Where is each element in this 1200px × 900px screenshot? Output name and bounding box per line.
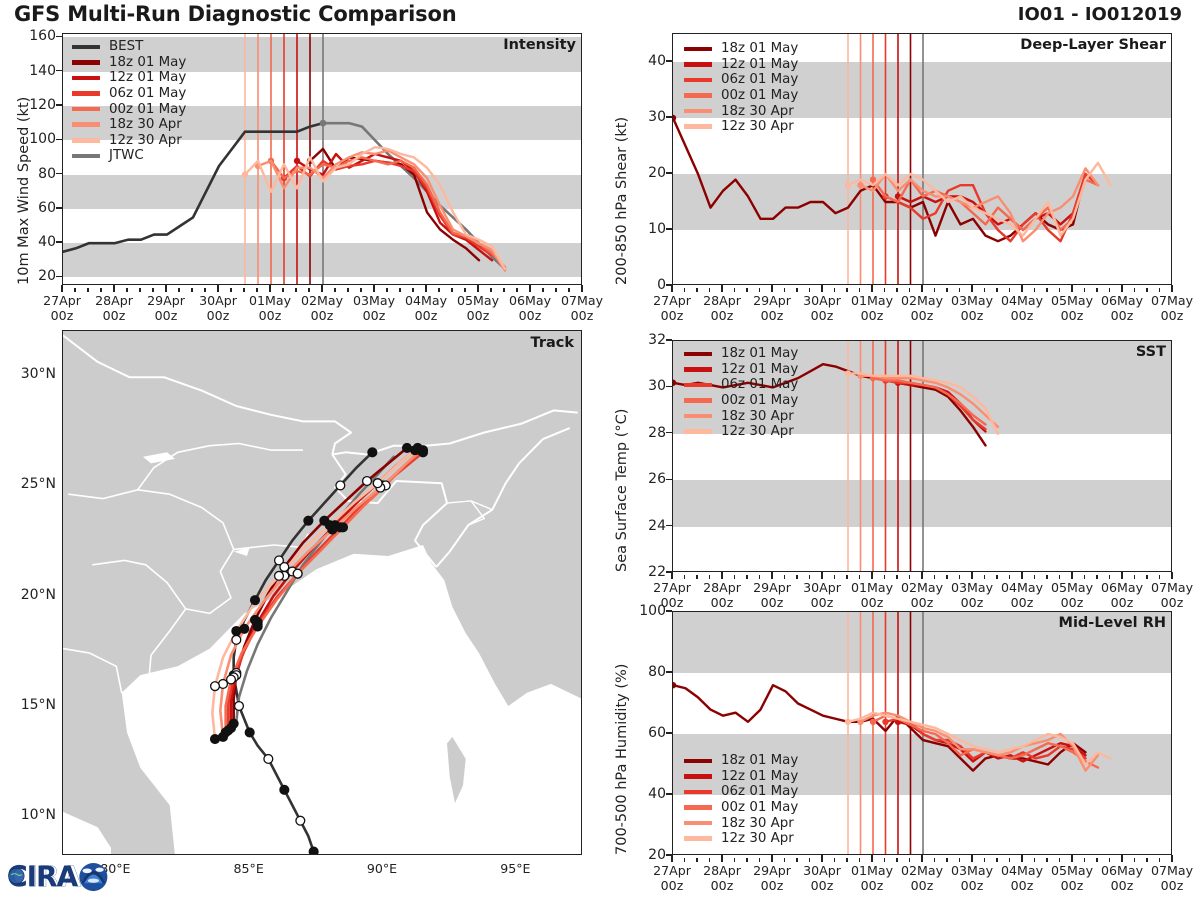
x-axis-tick-mark xyxy=(934,858,935,862)
legend-color-swatch xyxy=(72,122,100,127)
diagnostic-dashboard: GFS Multi-Run Diagnostic Comparison IO01… xyxy=(0,0,1200,900)
x-tick-hour: 00z xyxy=(1001,308,1043,323)
legend-item-label: 12z 30 Apr xyxy=(721,119,794,134)
legend-item-label: 18z 01 May xyxy=(721,753,798,768)
y-axis-tick-label: 20 xyxy=(610,165,666,181)
x-axis-tick-mark xyxy=(1146,858,1147,862)
y-axis-tick-label: 140 xyxy=(0,63,56,79)
track-lon-tick-label: 95°E xyxy=(500,861,530,876)
x-axis-tick-mark xyxy=(1071,285,1072,292)
track-lon-tick-label: 90°E xyxy=(367,861,397,876)
y-axis-tick-mark xyxy=(666,339,672,340)
x-tick-date: 06May xyxy=(509,293,551,308)
x-axis-tick-mark xyxy=(555,288,556,292)
legend-item-label: 06z 01 May xyxy=(721,377,798,392)
x-axis-tick-mark xyxy=(1046,858,1047,862)
x-tick-hour: 00z xyxy=(703,878,741,893)
x-axis-tick-mark xyxy=(734,575,735,579)
y-axis-tick-label: 30 xyxy=(610,378,666,394)
legend-color-swatch xyxy=(684,124,712,129)
x-axis-tick-label: 30Apr00z xyxy=(803,580,841,611)
legend-item: 12z 01 May xyxy=(684,362,798,378)
x-axis-tick-mark xyxy=(696,575,697,579)
x-axis-tick-label: 02May00z xyxy=(901,863,943,894)
series-line xyxy=(297,154,492,260)
legend-color-swatch xyxy=(72,154,100,159)
x-axis-tick-mark xyxy=(1096,288,1097,292)
x-axis-tick-mark xyxy=(709,575,710,579)
track-marker-open xyxy=(235,702,244,711)
x-axis-tick-mark xyxy=(684,575,685,579)
legend-color-swatch xyxy=(72,45,100,50)
intensity-legend: BEST18z 01 May12z 01 May06z 01 May00z 01… xyxy=(72,39,186,164)
x-axis-tick-mark xyxy=(191,288,192,292)
x-axis-tick-label: 02May00z xyxy=(301,293,343,324)
x-axis-tick-mark xyxy=(113,285,114,292)
track-marker-filled xyxy=(245,728,254,737)
x-tick-hour: 00z xyxy=(1051,595,1093,610)
x-tick-hour: 00z xyxy=(803,595,841,610)
x-axis-tick-label: 03May00z xyxy=(951,580,993,611)
x-axis-tick-mark xyxy=(1034,575,1035,579)
y-axis-tick-mark xyxy=(56,276,62,277)
x-axis-tick-mark xyxy=(846,288,847,292)
legend-item-label: 12z 30 Apr xyxy=(721,424,794,439)
x-axis-tick-mark xyxy=(451,288,452,292)
y-axis-tick-label: 40 xyxy=(610,786,666,802)
x-axis-tick-mark xyxy=(1071,855,1072,862)
legend-item-label: BEST xyxy=(109,39,143,54)
x-tick-date: 01May xyxy=(249,293,291,308)
x-axis-tick-mark xyxy=(896,575,897,579)
track-marker-filled xyxy=(325,521,334,530)
x-axis-tick-mark xyxy=(884,858,885,862)
x-tick-date: 27Apr xyxy=(43,293,81,308)
x-axis-tick-mark xyxy=(1121,285,1122,292)
x-axis-tick-mark xyxy=(542,288,543,292)
x-axis-tick-mark xyxy=(746,575,747,579)
x-tick-date: 06May xyxy=(1101,580,1143,595)
legend-color-swatch xyxy=(684,62,712,67)
legend-color-swatch xyxy=(72,107,100,112)
y-axis-tick-label: 0 xyxy=(610,277,666,293)
x-axis-tick-mark xyxy=(1096,858,1097,862)
x-tick-date: 29Apr xyxy=(753,580,791,595)
x-axis-tick-mark xyxy=(809,858,810,862)
legend-item: 06z 01 May xyxy=(72,86,186,102)
x-axis-tick-mark xyxy=(834,575,835,579)
x-axis-tick-mark xyxy=(871,855,872,862)
x-axis-tick-label: 02May00z xyxy=(901,580,943,611)
x-axis-tick-label: 30Apr00z xyxy=(199,293,237,324)
track-line xyxy=(226,450,423,732)
y-axis-tick-label: 100 xyxy=(0,131,56,147)
x-tick-date: 04May xyxy=(405,293,447,308)
x-axis-tick-mark xyxy=(759,575,760,579)
y-axis-tick-label: 100 xyxy=(610,603,666,619)
y-axis-tick-label: 30 xyxy=(610,109,666,125)
x-tick-date: 05May xyxy=(1051,293,1093,308)
x-tick-hour: 00z xyxy=(753,878,791,893)
legend-color-swatch xyxy=(684,367,712,372)
y-axis-tick-label: 28 xyxy=(610,425,666,441)
x-axis-tick-label: 05May00z xyxy=(1051,863,1093,894)
y-axis-tick-mark xyxy=(666,610,672,611)
legend-item-label: 12z 01 May xyxy=(721,769,798,784)
x-axis-tick-mark xyxy=(1021,572,1022,579)
x-tick-hour: 00z xyxy=(1101,878,1143,893)
x-tick-hour: 00z xyxy=(1051,878,1093,893)
track-marker-filled xyxy=(280,785,289,794)
legend-item: 18z 30 Apr xyxy=(684,408,798,424)
panel-mid-level-rh: Mid-Level RH 18z 01 May12z 01 May06z 01 … xyxy=(672,611,1172,855)
x-tick-date: 04May xyxy=(1001,580,1043,595)
x-tick-date: 05May xyxy=(457,293,499,308)
x-tick-date: 27Apr xyxy=(653,863,691,878)
x-tick-date: 29Apr xyxy=(753,293,791,308)
legend-color-swatch xyxy=(684,429,712,434)
track-line xyxy=(220,450,420,737)
track-marker-filled xyxy=(232,627,241,636)
x-axis-tick-mark xyxy=(126,288,127,292)
x-axis-tick-mark xyxy=(971,285,972,292)
x-axis-tick-mark xyxy=(74,288,75,292)
legend-color-swatch xyxy=(684,836,712,841)
x-axis-tick-mark xyxy=(1034,858,1035,862)
legend-item-label: 00z 01 May xyxy=(109,102,186,117)
x-tick-hour: 00z xyxy=(457,308,499,323)
panel-deep-layer-shear: Deep-Layer Shear 18z 01 May12z 01 May06z… xyxy=(672,33,1172,285)
x-tick-hour: 00z xyxy=(509,308,551,323)
x-axis-tick-mark xyxy=(1159,288,1160,292)
x-axis-tick-mark xyxy=(884,288,885,292)
x-tick-date: 05May xyxy=(1051,863,1093,878)
x-axis-tick-label: 30Apr00z xyxy=(803,863,841,894)
x-tick-hour: 00z xyxy=(1151,878,1193,893)
track-marker-filled xyxy=(339,523,348,532)
x-tick-hour: 00z xyxy=(951,308,993,323)
legend-color-swatch xyxy=(684,414,712,419)
shear-ylabel: 200-850 hPa Shear (kt) xyxy=(614,117,630,285)
x-tick-hour: 00z xyxy=(753,308,791,323)
storm-id-label: IO01 - IO012019 xyxy=(1018,4,1182,25)
x-axis-tick-mark xyxy=(821,285,822,292)
x-axis-tick-mark xyxy=(1109,858,1110,862)
x-axis-tick-mark xyxy=(217,285,218,292)
x-tick-hour: 00z xyxy=(405,308,447,323)
sst-legend: 18z 01 May12z 01 May06z 01 May00z 01 May… xyxy=(684,346,798,440)
x-axis-tick-mark xyxy=(1084,288,1085,292)
x-axis-tick-label: 01May00z xyxy=(851,580,893,611)
x-axis-tick-mark xyxy=(996,288,997,292)
legend-item: 00z 01 May xyxy=(684,800,798,816)
x-axis-tick-mark xyxy=(1159,575,1160,579)
x-tick-hour: 00z xyxy=(753,595,791,610)
x-axis-tick-mark xyxy=(859,858,860,862)
y-axis-tick-mark xyxy=(56,241,62,242)
x-axis-tick-mark xyxy=(1034,288,1035,292)
x-tick-date: 28Apr xyxy=(703,580,741,595)
x-axis-tick-mark xyxy=(896,858,897,862)
x-axis-tick-mark xyxy=(996,858,997,862)
y-axis-tick-mark xyxy=(666,116,672,117)
y-axis-tick-label: 60 xyxy=(0,200,56,216)
x-axis-tick-mark xyxy=(796,858,797,862)
x-axis-tick-mark xyxy=(734,858,735,862)
y-axis-tick-label: 160 xyxy=(0,28,56,44)
legend-color-swatch xyxy=(684,398,712,403)
x-axis-tick-mark xyxy=(1109,288,1110,292)
x-tick-hour: 00z xyxy=(1151,308,1193,323)
legend-item-label: 00z 01 May xyxy=(721,88,798,103)
x-axis-tick-mark xyxy=(871,285,872,292)
x-axis-tick-mark xyxy=(909,858,910,862)
x-tick-hour: 00z xyxy=(653,878,691,893)
x-axis-tick-mark xyxy=(1084,858,1085,862)
legend-item: 18z 01 May xyxy=(684,41,798,57)
x-tick-date: 30Apr xyxy=(803,580,841,595)
x-axis-tick-label: 29Apr00z xyxy=(753,580,791,611)
legend-item-label: 00z 01 May xyxy=(721,800,798,815)
legend-color-swatch xyxy=(684,47,712,52)
x-axis-tick-mark xyxy=(178,288,179,292)
legend-item-label: 06z 01 May xyxy=(109,86,186,101)
legend-color-swatch xyxy=(684,352,712,357)
x-axis-tick-mark xyxy=(784,288,785,292)
y-axis-tick-mark xyxy=(56,139,62,140)
rh-legend: 18z 01 May12z 01 May06z 01 May00z 01 May… xyxy=(684,753,798,847)
x-tick-hour: 00z xyxy=(1001,878,1043,893)
x-tick-date: 07May xyxy=(1151,293,1193,308)
x-axis-tick-mark xyxy=(282,288,283,292)
x-tick-date: 27Apr xyxy=(653,580,691,595)
legend-item: 06z 01 May xyxy=(684,377,798,393)
track-lat-tick-label: 20°N xyxy=(0,587,56,603)
x-axis-tick-mark xyxy=(809,575,810,579)
legend-item: 18z 30 Apr xyxy=(684,103,798,119)
track-line xyxy=(231,450,415,728)
x-axis-tick-mark xyxy=(746,288,747,292)
x-tick-date: 30Apr xyxy=(803,863,841,878)
y-axis-tick-mark xyxy=(56,36,62,37)
x-axis-tick-mark xyxy=(721,285,722,292)
x-axis-tick-mark xyxy=(1146,288,1147,292)
series-line xyxy=(258,151,505,271)
x-tick-date: 03May xyxy=(353,293,395,308)
series-init-marker xyxy=(870,719,876,725)
legend-item: 00z 01 May xyxy=(72,101,186,117)
x-tick-hour: 00z xyxy=(703,595,741,610)
x-tick-hour: 00z xyxy=(1101,308,1143,323)
track-marker-open xyxy=(336,481,345,490)
legend-item: 12z 01 May xyxy=(72,70,186,86)
x-axis-tick-label: 01May00z xyxy=(851,863,893,894)
x-axis-tick-mark xyxy=(1046,575,1047,579)
x-axis-tick-label: 28Apr00z xyxy=(703,293,741,324)
x-axis-tick-mark xyxy=(959,858,960,862)
y-axis-tick-mark xyxy=(666,525,672,526)
x-axis-tick-mark xyxy=(771,285,772,292)
legend-color-swatch xyxy=(72,76,100,81)
track-marker-filled xyxy=(368,448,377,457)
y-axis-tick-mark xyxy=(666,479,672,480)
x-axis-tick-mark xyxy=(971,572,972,579)
x-axis-tick-mark xyxy=(846,858,847,862)
legend-item: 18z 30 Apr xyxy=(684,815,798,831)
legend-color-swatch xyxy=(684,774,712,779)
series-init-marker xyxy=(242,171,248,177)
x-axis-tick-mark xyxy=(909,575,910,579)
x-tick-date: 30Apr xyxy=(199,293,237,308)
x-axis-tick-mark xyxy=(984,575,985,579)
x-axis-tick-mark xyxy=(759,858,760,862)
x-axis-tick-mark xyxy=(516,288,517,292)
x-tick-hour: 00z xyxy=(951,595,993,610)
y-axis-tick-label: 40 xyxy=(610,53,666,69)
x-axis-tick-mark xyxy=(1134,288,1135,292)
track-marker-filled xyxy=(211,735,220,744)
x-axis-tick-mark xyxy=(1134,858,1135,862)
x-axis-tick-label: 29Apr00z xyxy=(753,293,791,324)
x-axis-tick-mark xyxy=(87,288,88,292)
x-axis-tick-mark xyxy=(581,285,582,292)
x-axis-tick-mark xyxy=(1171,572,1172,579)
track-marker-filled xyxy=(251,596,260,605)
x-axis-tick-label: 05May00z xyxy=(1051,580,1093,611)
x-axis-tick-mark xyxy=(1121,855,1122,862)
x-tick-hour: 00z xyxy=(703,308,741,323)
legend-item: 18z 01 May xyxy=(684,346,798,362)
x-axis-tick-label: 27Apr00z xyxy=(43,293,81,324)
x-axis-tick-mark xyxy=(971,855,972,862)
x-tick-date: 28Apr xyxy=(95,293,133,308)
x-tick-hour: 00z xyxy=(851,308,893,323)
x-axis-tick-mark xyxy=(100,288,101,292)
x-tick-hour: 00z xyxy=(803,308,841,323)
legend-item-label: 18z 30 Apr xyxy=(109,117,182,132)
x-tick-date: 04May xyxy=(1001,293,1043,308)
legend-item-label: 06z 01 May xyxy=(721,784,798,799)
x-axis-tick-label: 29Apr00z xyxy=(753,863,791,894)
x-tick-hour: 00z xyxy=(901,308,943,323)
series-init-marker xyxy=(672,682,676,688)
x-axis-tick-mark xyxy=(721,855,722,862)
x-axis-tick-mark xyxy=(946,575,947,579)
x-tick-hour: 00z xyxy=(803,878,841,893)
x-axis-tick-label: 28Apr00z xyxy=(703,863,741,894)
legend-color-swatch xyxy=(72,91,100,96)
x-tick-date: 07May xyxy=(561,293,603,308)
legend-item-label: 12z 30 Apr xyxy=(109,133,182,148)
x-tick-hour: 00z xyxy=(301,308,343,323)
x-axis-tick-label: 04May00z xyxy=(405,293,447,324)
x-axis-tick-label: 28Apr00z xyxy=(95,293,133,324)
y-axis-tick-label: 26 xyxy=(610,471,666,487)
x-axis-tick-mark xyxy=(360,288,361,292)
page-title: GFS Multi-Run Diagnostic Comparison xyxy=(14,2,456,26)
legend-item-label: 18z 01 May xyxy=(721,346,798,361)
legend-item: 00z 01 May xyxy=(684,88,798,104)
series-line xyxy=(284,161,492,255)
x-axis-tick-mark xyxy=(709,858,710,862)
y-axis-tick-label: 22 xyxy=(610,564,666,580)
x-axis-tick-mark xyxy=(671,572,672,579)
x-axis-tick-mark xyxy=(1084,575,1085,579)
x-axis-tick-label: 07May00z xyxy=(561,293,603,324)
legend-color-swatch xyxy=(684,790,712,795)
track-marker-open xyxy=(264,755,273,764)
legend-item: 06z 01 May xyxy=(684,784,798,800)
track-marker-open xyxy=(296,816,305,825)
x-axis-tick-mark xyxy=(821,572,822,579)
legend-item-label: 12z 01 May xyxy=(721,57,798,72)
y-axis-tick-label: 24 xyxy=(610,518,666,534)
x-axis-tick-mark xyxy=(671,855,672,862)
x-tick-hour: 00z xyxy=(1001,595,1043,610)
x-tick-date: 06May xyxy=(1101,293,1143,308)
x-axis-tick-mark xyxy=(921,855,922,862)
track-marker-filled xyxy=(413,444,422,453)
x-tick-hour: 00z xyxy=(851,595,893,610)
x-tick-hour: 00z xyxy=(561,308,603,323)
x-axis-tick-mark xyxy=(921,285,922,292)
legend-item: 06z 01 May xyxy=(684,72,798,88)
x-axis-tick-mark xyxy=(1109,575,1110,579)
x-axis-tick-mark xyxy=(946,288,947,292)
x-tick-date: 04May xyxy=(1001,863,1043,878)
y-axis-tick-mark xyxy=(666,228,672,229)
x-axis-tick-mark xyxy=(959,288,960,292)
x-axis-tick-label: 01May00z xyxy=(851,293,893,324)
x-tick-date: 03May xyxy=(951,863,993,878)
x-axis-tick-mark xyxy=(256,288,257,292)
x-tick-date: 30Apr xyxy=(803,293,841,308)
rh-ylabel: 700-500 hPa Humidity (%) xyxy=(614,664,630,855)
track-marker-open xyxy=(227,675,236,684)
series-init-marker xyxy=(857,182,863,188)
x-axis-tick-mark xyxy=(1071,572,1072,579)
legend-item: 00z 01 May xyxy=(684,393,798,409)
x-axis-tick-mark xyxy=(809,288,810,292)
legend-item: 18z 01 May xyxy=(684,753,798,769)
x-axis-tick-mark xyxy=(1059,858,1060,862)
x-axis-tick-mark xyxy=(568,288,569,292)
x-axis-tick-mark xyxy=(308,288,309,292)
x-tick-hour: 00z xyxy=(43,308,81,323)
series-init-marker xyxy=(320,120,327,127)
x-tick-date: 29Apr xyxy=(147,293,185,308)
x-axis-tick-mark xyxy=(399,288,400,292)
y-axis-tick-label: 32 xyxy=(610,332,666,348)
x-axis-tick-mark xyxy=(959,575,960,579)
x-tick-hour: 00z xyxy=(1051,308,1093,323)
x-axis-tick-mark xyxy=(846,575,847,579)
shear-legend: 18z 01 May12z 01 May06z 01 May00z 01 May… xyxy=(684,41,798,135)
track-line xyxy=(212,448,417,739)
y-axis-tick-mark xyxy=(56,173,62,174)
series-init-marker xyxy=(672,115,676,121)
x-axis-tick-mark xyxy=(321,285,322,292)
x-axis-tick-mark xyxy=(984,858,985,862)
x-axis-tick-mark xyxy=(771,855,772,862)
x-axis-tick-mark xyxy=(425,285,426,292)
x-axis-tick-mark xyxy=(709,288,710,292)
x-axis-tick-mark xyxy=(984,288,985,292)
y-axis-tick-label: 120 xyxy=(0,97,56,113)
series-init-marker xyxy=(845,370,851,376)
x-axis-tick-mark xyxy=(334,288,335,292)
track-marker-open xyxy=(211,682,220,691)
